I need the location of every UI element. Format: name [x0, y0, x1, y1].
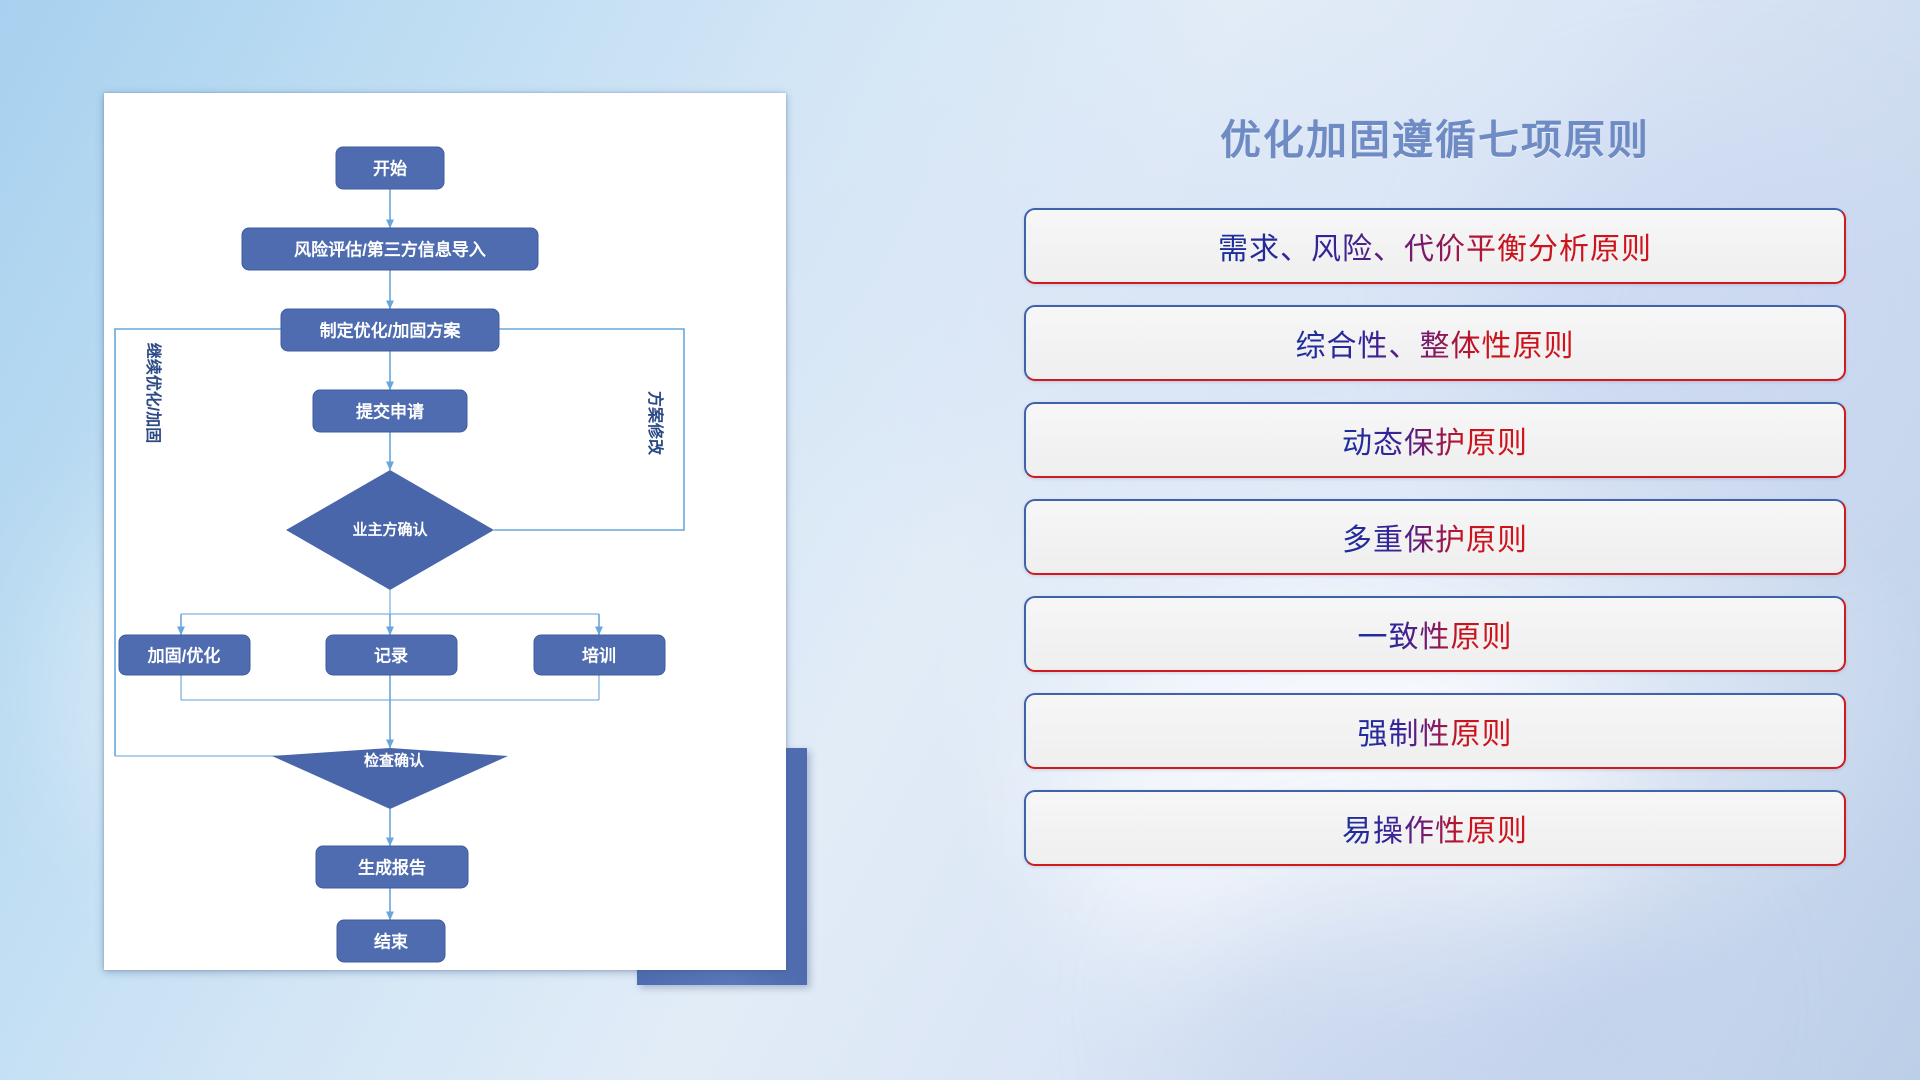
flow-node-end[interactable]: 结束: [337, 920, 445, 962]
flow-node-make-plan[interactable]: 制定优化/加固方案: [281, 309, 499, 351]
principle-item-5[interactable]: 一致性原则: [1024, 596, 1846, 672]
flow-node-reinforce-optimize-label: 加固/优化: [147, 646, 221, 666]
principle-item-7-label: 易操作性原则: [1342, 806, 1528, 850]
principle-item-5-label: 一致性原则: [1358, 612, 1513, 656]
principles-panel: 优化加固遵循七项原则 需求、风险、代价平衡分析原则 综合性、整体性原则 动态保护…: [1020, 96, 1850, 1016]
flow-node-training-label: 培训: [582, 646, 616, 666]
principle-item-4[interactable]: 多重保护原则: [1024, 499, 1846, 575]
principle-item-1-label: 需求、风险、代价平衡分析原则: [1218, 224, 1652, 268]
flowchart-card: 开始 风险评估/第三方信息导入 制定优化/加固方案 提交申请 业主方确认: [104, 93, 786, 970]
flow-node-generate-report[interactable]: 生成报告: [316, 846, 468, 888]
principle-item-2[interactable]: 综合性、整体性原则: [1024, 305, 1846, 381]
edge-label-revise-plan: 方案修改: [646, 391, 665, 456]
flow-node-generate-report-label: 生成报告: [358, 858, 426, 878]
flow-node-start-label: 开始: [373, 159, 407, 179]
flow-node-risk-assessment[interactable]: 风险评估/第三方信息导入: [242, 228, 538, 270]
flow-node-training[interactable]: 培训: [534, 635, 665, 675]
principle-item-6-label: 强制性原则: [1358, 709, 1513, 753]
flow-node-check-confirm[interactable]: 检查确认: [272, 748, 508, 809]
principle-item-7[interactable]: 易操作性原则: [1024, 790, 1846, 866]
flow-node-make-plan-label: 制定优化/加固方案: [320, 321, 462, 341]
flow-node-end-label: 结束: [374, 932, 408, 952]
panel-title: 优化加固遵循七项原则: [1020, 96, 1850, 166]
flow-node-check-confirm-label: 检查确认: [364, 752, 425, 770]
flow-node-owner-confirm-label: 业主方确认: [352, 521, 428, 539]
principle-item-3[interactable]: 动态保护原则: [1024, 402, 1846, 478]
flow-node-record[interactable]: 记录: [326, 635, 457, 675]
flowchart-svg: 开始 风险评估/第三方信息导入 制定优化/加固方案 提交申请 业主方确认: [104, 93, 786, 970]
flow-node-submit-application[interactable]: 提交申请: [313, 390, 467, 432]
principle-item-2-label: 综合性、整体性原则: [1296, 321, 1575, 365]
flow-node-submit-application-label: 提交申请: [356, 402, 424, 422]
principle-item-3-label: 动态保护原则: [1342, 418, 1528, 462]
slide-canvas: 开始 风险评估/第三方信息导入 制定优化/加固方案 提交申请 业主方确认: [0, 0, 1920, 1080]
flow-node-risk-assessment-label: 风险评估/第三方信息导入: [294, 240, 486, 260]
principle-item-6[interactable]: 强制性原则: [1024, 693, 1846, 769]
principle-list: 需求、风险、代价平衡分析原则 综合性、整体性原则 动态保护原则 多重保护原则 一…: [1020, 208, 1850, 866]
principle-item-4-label: 多重保护原则: [1342, 515, 1528, 559]
flow-node-start[interactable]: 开始: [336, 147, 444, 189]
edge-label-continue-optimize: 继续优化/加固: [144, 343, 163, 443]
flow-node-owner-confirm[interactable]: 业主方确认: [286, 470, 494, 590]
flow-node-record-label: 记录: [374, 647, 408, 666]
principle-item-1[interactable]: 需求、风险、代价平衡分析原则: [1024, 208, 1846, 284]
flow-node-reinforce-optimize[interactable]: 加固/优化: [119, 635, 250, 675]
